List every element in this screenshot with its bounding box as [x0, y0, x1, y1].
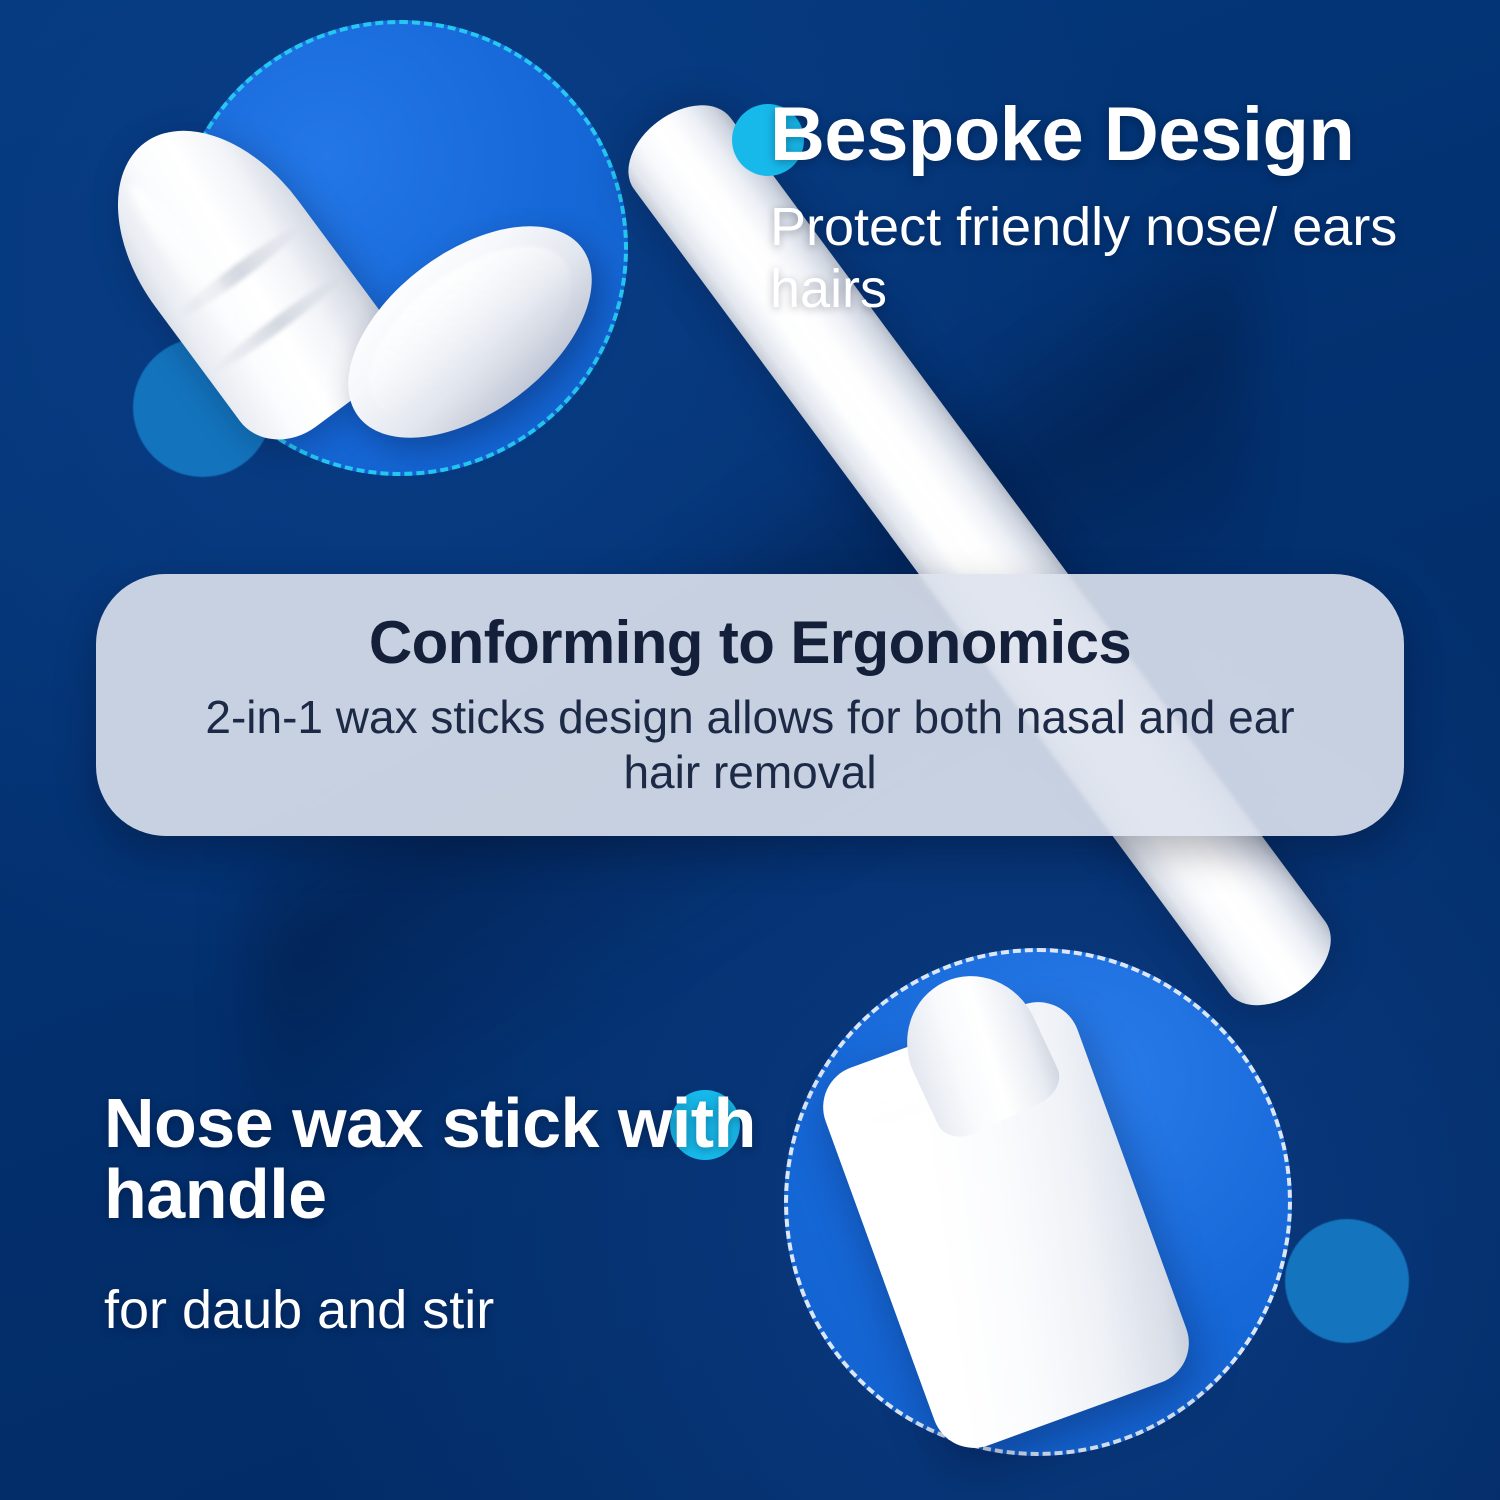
callout-bottom-subline: for daub and stir — [104, 1279, 764, 1342]
teal-accent-blob-right — [1285, 1219, 1409, 1343]
center-panel-title: Conforming to Ergonomics — [369, 611, 1131, 674]
product-infographic: Bespoke Design Protect friendly nose/ ea… — [0, 0, 1500, 1500]
center-feature-panel: Conforming to Ergonomics 2-in-1 wax stic… — [96, 574, 1404, 836]
callout-bottom-headline: Nose wax stick with handle — [104, 1088, 764, 1231]
center-panel-body: 2-in-1 wax sticks design allows for both… — [180, 690, 1320, 799]
dashed-border-ring — [784, 948, 1292, 1456]
callout-nose-wax-stick: Nose wax stick with handle for daub and … — [104, 1088, 764, 1341]
callout-bespoke-design: Bespoke Design Protect friendly nose/ ea… — [770, 96, 1430, 321]
dashed-border-ring — [172, 20, 628, 476]
detail-circle-top-left — [172, 20, 628, 476]
callout-top-headline: Bespoke Design — [770, 96, 1430, 174]
callout-top-subline: Protect friendly nose/ ears hairs — [770, 196, 1430, 321]
detail-circle-bottom-right — [784, 948, 1292, 1456]
